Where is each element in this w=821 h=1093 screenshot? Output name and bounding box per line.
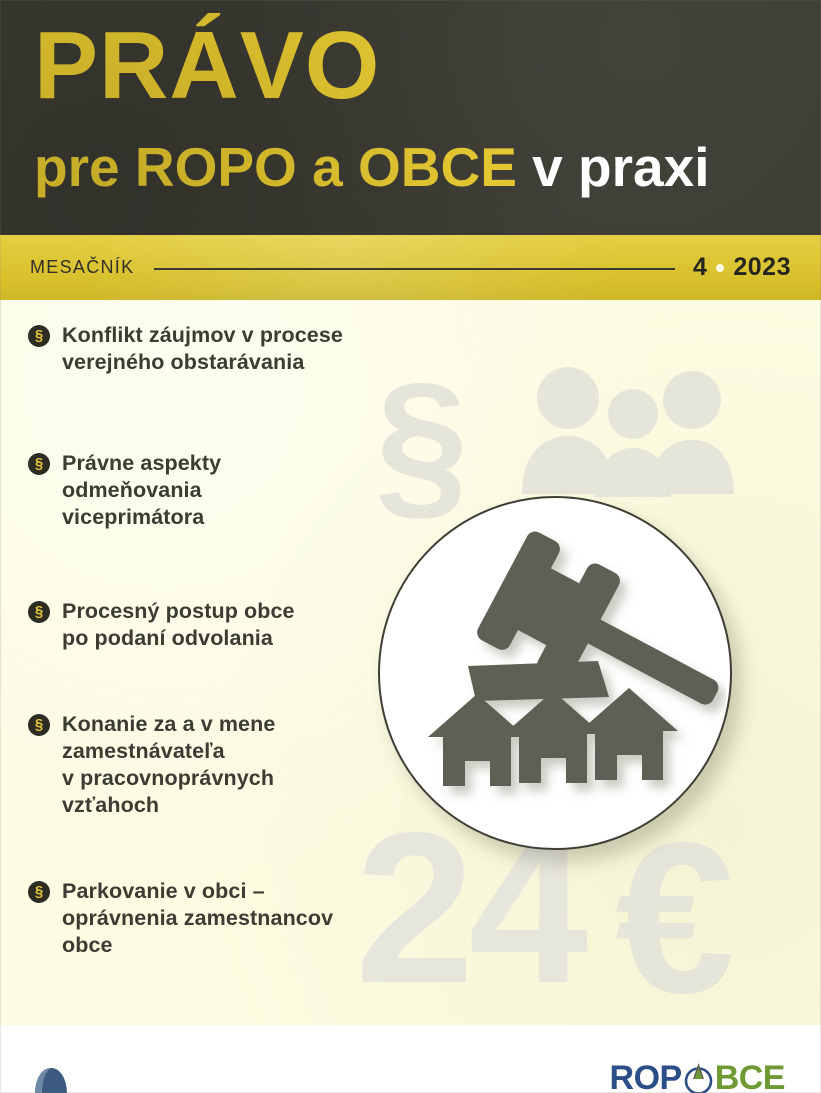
article-title: Parkovanie v obci – oprávnenia zamestnan… (62, 878, 333, 959)
watermark-euro-icon: € (615, 810, 735, 1025)
masthead: PRÁVO pre ROPO a OBCE v praxi (0, 0, 821, 235)
list-item[interactable]: § Právne aspekty odmeňovania viceprimáto… (28, 450, 221, 531)
cover-illustration-disc (378, 496, 732, 850)
article-title: Právne aspekty odmeňovania viceprimátora (62, 450, 221, 531)
house-icon (428, 694, 526, 786)
magazine-title: PRÁVO (34, 18, 380, 114)
magazine-subtitle: pre ROPO a OBCE v praxi (34, 140, 710, 195)
logo-ropo-text: ROP (610, 1061, 682, 1093)
footer-strip: ROP BCE (0, 1025, 821, 1093)
issue-band: MESAČNÍK 4 2023 (0, 235, 821, 300)
paragraph-bullet-icon: § (28, 714, 50, 736)
subtitle-white-part: v praxi (532, 136, 709, 198)
sound-block-icon (468, 661, 609, 701)
paragraph-bullet-icon: § (28, 453, 50, 475)
list-item[interactable]: § Konflikt záujmov v procese verejného o… (28, 322, 343, 376)
article-title: Procesný postup obce po podaní odvolania (62, 598, 295, 652)
subtitle-yellow-part: pre ROPO a OBCE (34, 136, 517, 198)
dome-icon (34, 1063, 68, 1093)
cover-body: § 24 € (0, 300, 821, 1025)
gavel-over-houses-illustration (380, 498, 726, 844)
band-divider-rule (154, 268, 675, 270)
watermark-paragraph-icon: § (375, 358, 468, 526)
list-item[interactable]: § Parkovanie v obci – oprávnenia zamestn… (28, 878, 333, 959)
logo-obce-text: BCE (715, 1061, 785, 1093)
list-item[interactable]: § Konanie za a v mene zamestnávateľa v p… (28, 711, 275, 819)
issue-band-content: MESAČNÍK 4 2023 (0, 235, 821, 300)
issue-number: 4 (693, 253, 707, 282)
periodicity-label: MESAČNÍK (30, 257, 134, 278)
tree-circle-icon (683, 1063, 714, 1093)
issue-year: 2023 (733, 253, 791, 282)
list-item[interactable]: § Procesný postup obce po podaní odvolan… (28, 598, 295, 652)
magazine-cover: PRÁVO pre ROPO a OBCE v praxi MESAČNÍK 4… (0, 0, 821, 1093)
publisher-logo[interactable]: ROP BCE (610, 1059, 785, 1093)
paragraph-bullet-icon: § (28, 325, 50, 347)
paragraph-bullet-icon: § (28, 601, 50, 623)
separator-dot-icon (716, 264, 724, 272)
watermark-people-group-icon (520, 362, 735, 497)
issue-designation: 4 2023 (693, 253, 791, 282)
article-title: Konflikt záujmov v procese verejného obs… (62, 322, 343, 376)
article-title: Konanie za a v mene zamestnávateľa v pra… (62, 711, 275, 819)
paragraph-bullet-icon: § (28, 881, 50, 903)
logo-text: ROP BCE (610, 1061, 785, 1093)
